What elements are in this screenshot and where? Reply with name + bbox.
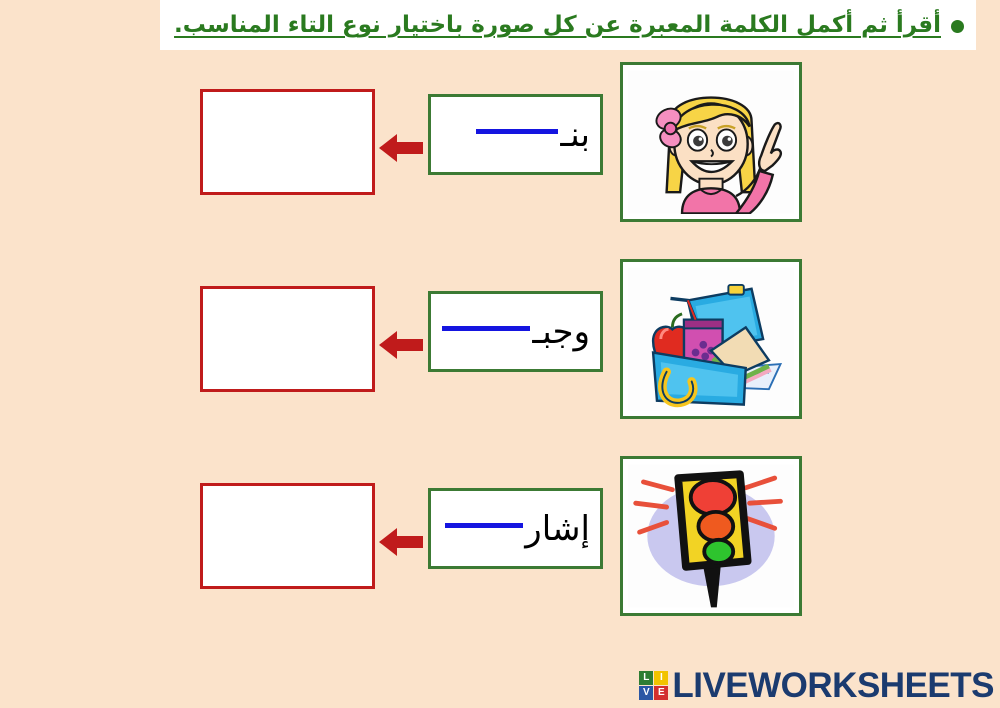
- girl-pointing-icon: [628, 70, 794, 214]
- left-arrow-icon: [377, 524, 425, 560]
- logo-cell-e: E: [654, 686, 668, 700]
- logo-cell-l: L: [639, 671, 653, 685]
- instruction-text: أقرأ ثم أكمل الكلمة المعبرة عن كل صورة ب…: [174, 8, 941, 42]
- answer-input-box[interactable]: [200, 483, 375, 589]
- liveworksheets-logo: L I V E LIVEWORKSHEETS: [639, 665, 994, 705]
- blank-line: [445, 523, 523, 528]
- picture-frame: [620, 259, 802, 419]
- logo-cell-i: I: [654, 671, 668, 685]
- word-prompt-box: إشار: [428, 488, 603, 569]
- word-prompt-box: وجبـ: [428, 291, 603, 372]
- logo-cell-v: V: [639, 686, 653, 700]
- answer-input-box[interactable]: [200, 286, 375, 392]
- traffic-light-icon: [628, 464, 794, 608]
- answer-input-box[interactable]: [200, 89, 375, 195]
- lunchbox-icon: [628, 267, 794, 411]
- exercise-row: إشار: [0, 456, 1000, 616]
- word-prefix-text: بنـ: [560, 116, 590, 154]
- blank-line: [476, 129, 558, 134]
- picture-frame: [620, 456, 802, 616]
- logo-blocks-icon: L I V E: [639, 671, 668, 700]
- left-arrow-icon: [377, 327, 425, 363]
- picture-frame: [620, 62, 802, 222]
- left-arrow-icon: [377, 130, 425, 166]
- exercise-row: بنـ: [0, 62, 1000, 222]
- blank-line: [442, 326, 530, 331]
- logo-wordmark: LIVEWORKSHEETS: [672, 668, 994, 703]
- word-prefix-text: وجبـ: [532, 313, 590, 351]
- instruction-banner: أقرأ ثم أكمل الكلمة المعبرة عن كل صورة ب…: [160, 0, 976, 50]
- bullet-dot-icon: [951, 20, 964, 33]
- word-prompt-box: بنـ: [428, 94, 603, 175]
- exercise-row: وجبـ: [0, 259, 1000, 419]
- instruction-banner-inner: أقرأ ثم أكمل الكلمة المعبرة عن كل صورة ب…: [160, 0, 976, 50]
- word-prefix-text: إشار: [525, 510, 590, 548]
